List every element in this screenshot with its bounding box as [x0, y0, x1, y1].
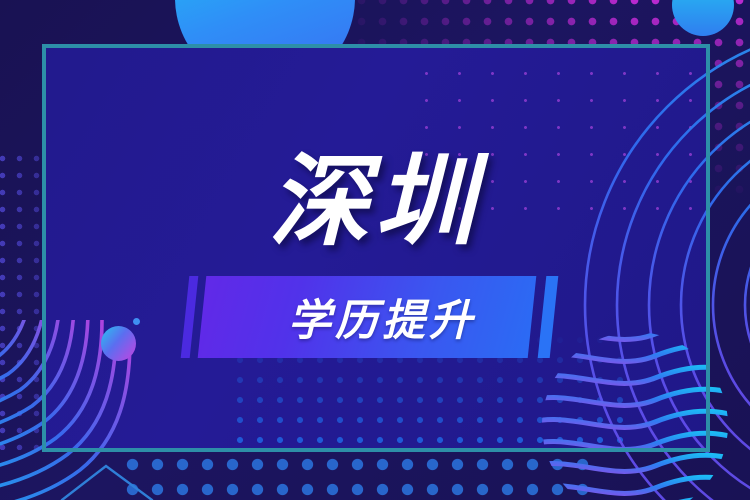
chevron-outline-shape [60, 462, 190, 500]
subtitle-ribbon: 学历提升 [185, 276, 565, 358]
page-title: 深圳 [0, 152, 750, 252]
promotional-banner: 深圳 学历提升 [0, 0, 750, 500]
subtitle-text: 学历提升 [185, 276, 565, 358]
